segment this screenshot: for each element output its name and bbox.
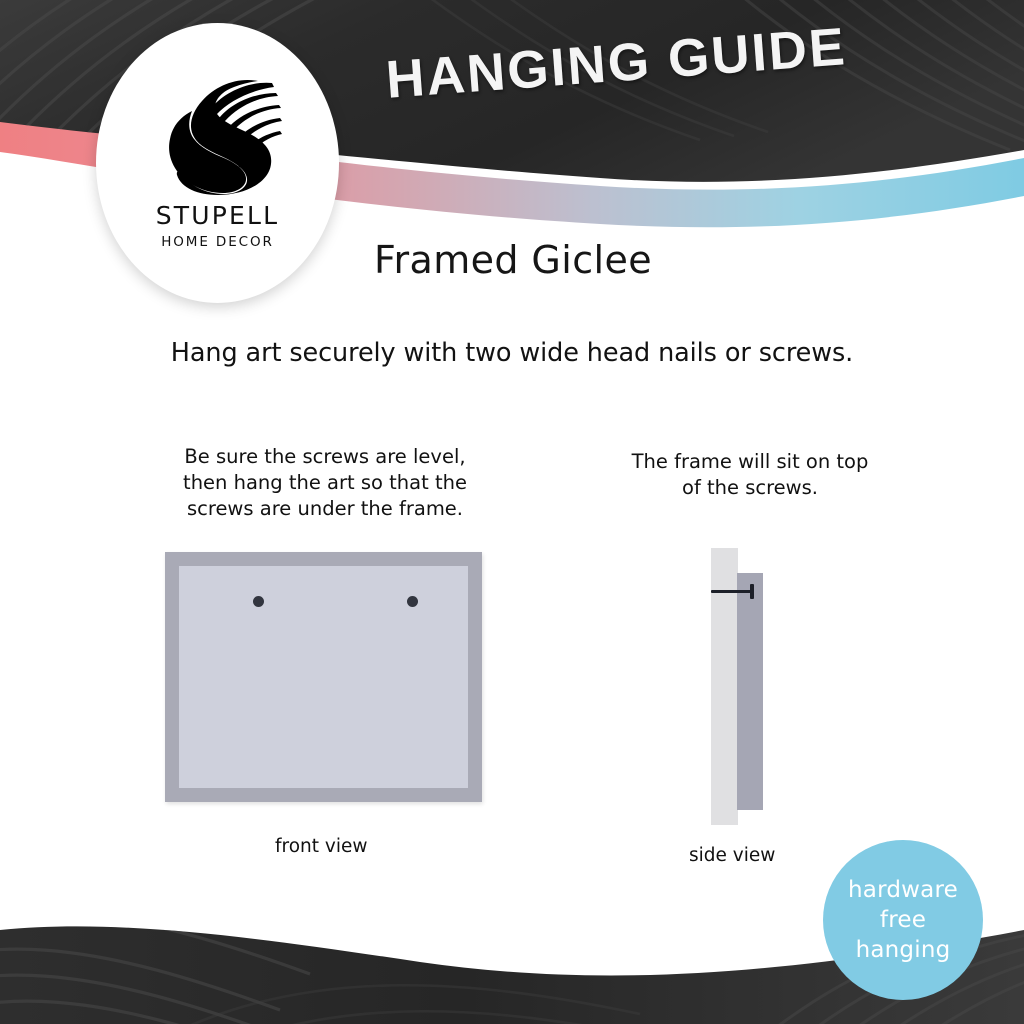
front-view-label: front view [275, 836, 368, 857]
nail-head-icon [750, 584, 754, 599]
side-view-diagram [695, 540, 795, 825]
screw-dot-left-icon [253, 596, 264, 607]
front-view-artwork-area [179, 566, 468, 788]
badge-line: free [880, 905, 926, 935]
brand-logo-badge: STUPELL HOME DECOR [96, 23, 339, 303]
screw-dot-right-icon [407, 596, 418, 607]
front-view-diagram [165, 552, 482, 802]
caption-line: The frame will sit on top [595, 449, 905, 475]
caption-line: then hang the art so that the [160, 470, 490, 496]
side-view-caption-text: The frame will sit on top of the screws. [595, 449, 905, 501]
stupell-s-swoosh-logo-icon [154, 65, 282, 195]
nail-shaft-icon [711, 590, 753, 593]
badge-line: hanging [856, 935, 951, 965]
front-view-caption-text: Be sure the screws are level, then hang … [160, 444, 490, 522]
main-instruction-text: Hang art securely with two wide head nai… [0, 338, 1024, 368]
product-type-heading: Framed Giclee [374, 238, 652, 282]
brand-tagline: HOME DECOR [161, 234, 274, 250]
badge-line: hardware [848, 875, 958, 905]
side-view-frame [737, 573, 763, 810]
hardware-free-hanging-badge: hardware free hanging [823, 840, 983, 1000]
page-title: HANGING GUIDE [384, 16, 849, 111]
side-view-label: side view [689, 845, 775, 866]
caption-line: of the screws. [595, 475, 905, 501]
caption-line: screws are under the frame. [160, 496, 490, 522]
caption-line: Be sure the screws are level, [160, 444, 490, 470]
hanging-guide-page: STUPELL HOME DECOR HANGING GUIDE Framed … [0, 0, 1024, 1024]
brand-name: STUPELL [156, 201, 280, 230]
